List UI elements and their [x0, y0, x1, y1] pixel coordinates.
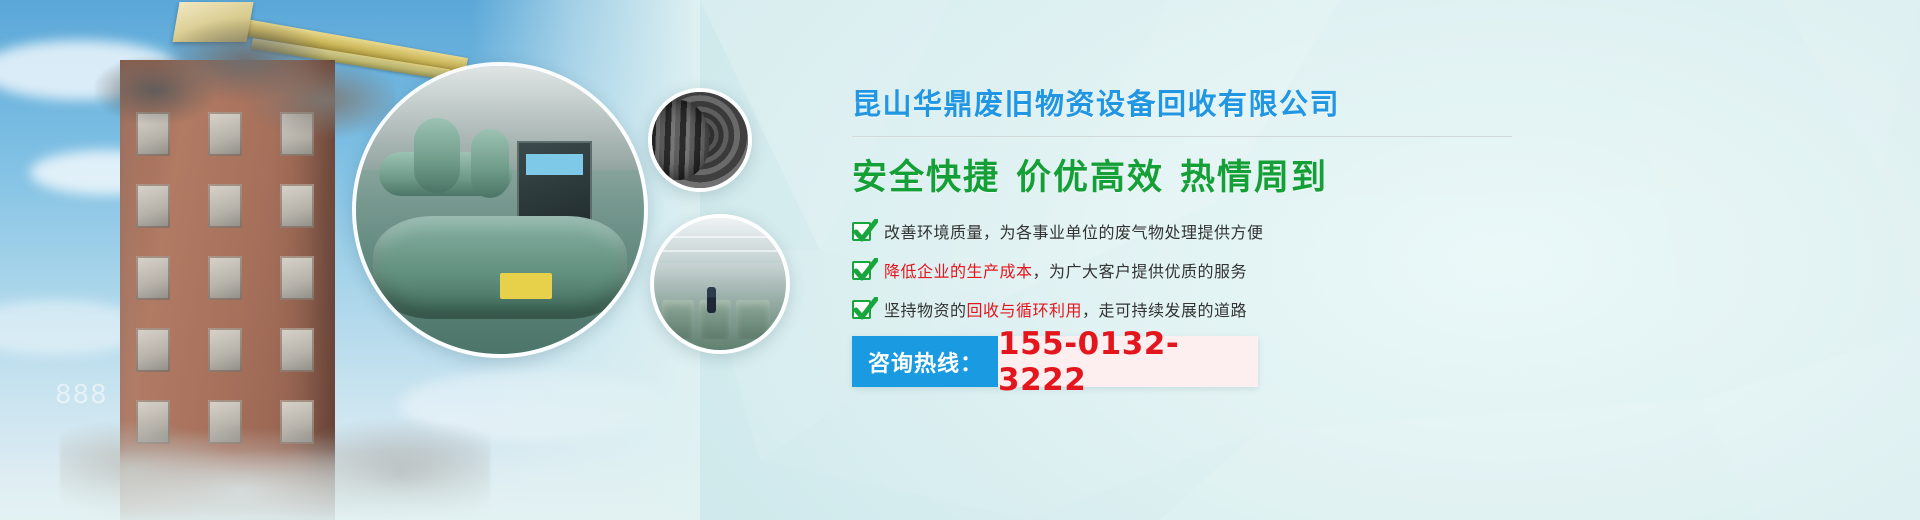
- slogan: 安全快捷价优高效热情周到: [852, 157, 1852, 199]
- check-icon: [852, 261, 871, 280]
- ceiling: [654, 218, 786, 263]
- watermark: 888: [55, 380, 108, 410]
- list-item-pre: 改善环境质量: [884, 219, 983, 243]
- check-icon: [852, 300, 871, 319]
- hotline-label: 咨询热线：: [852, 336, 998, 387]
- photo-fade-bottom: [0, 450, 700, 520]
- feature-list: 改善环境质量 ，为各事业单位的废气物处理提供方便 降低企业的生产成本 ，为广大客…: [852, 219, 1852, 321]
- window: [280, 184, 314, 228]
- list-item: 降低企业的生产成本 ，为广大客户提供优质的服务: [852, 258, 1852, 282]
- window: [208, 184, 242, 228]
- list-item: 改善环境质量 ，为各事业单位的废气物处理提供方便: [852, 219, 1852, 243]
- steel-coil-photo-bubble: [648, 88, 752, 192]
- yellow-label: [500, 273, 552, 299]
- hotline-number[interactable]: 155-0132-3222: [998, 336, 1258, 387]
- list-item-highlight: 降低企业的生产成本: [884, 258, 1033, 282]
- pressure-tank: [373, 216, 626, 320]
- ceiling-beam: [654, 250, 786, 252]
- worker: [707, 287, 716, 313]
- machinery-photo-bubble: [352, 62, 648, 358]
- coil-bands: [648, 100, 710, 181]
- chiller-machine: [356, 66, 644, 354]
- plating-tank: [662, 300, 694, 340]
- plating-tank: [736, 300, 770, 340]
- pipe: [471, 129, 508, 198]
- ceiling-beam: [654, 236, 786, 238]
- pipe: [414, 118, 460, 193]
- rubble: [95, 0, 395, 170]
- list-item-highlight: 回收与循环利用: [967, 297, 1083, 321]
- steel-coil: [652, 92, 748, 188]
- list-item: 坚持物资的 回收与循环利用 ，走可持续发展的道路: [852, 297, 1852, 321]
- workshop-photo-bubble: [650, 214, 790, 354]
- check-icon: [852, 222, 871, 241]
- banner-content: 昆山华鼎废旧物资设备回收有限公司 安全快捷价优高效热情周到 改善环境质量 ，为各…: [852, 86, 1852, 387]
- divider: [852, 136, 1512, 138]
- list-item-post: ，走可持续发展的道路: [1082, 297, 1247, 321]
- slogan-part-3: 热情周到: [1180, 158, 1328, 198]
- slogan-part-1: 安全快捷: [852, 158, 1000, 198]
- workshop-interior: [654, 218, 786, 350]
- company-name: 昆山华鼎废旧物资设备回收有限公司: [852, 86, 1852, 122]
- hotline-bar[interactable]: 咨询热线： 155-0132-3222: [852, 336, 1258, 387]
- list-item-post: ，为广大客户提供优质的服务: [1033, 258, 1248, 282]
- promo-banner: 888 昆山华鼎废旧: [0, 0, 1920, 520]
- slogan-part-2: 价优高效: [1016, 158, 1164, 198]
- list-item-pre: 坚持物资的: [884, 297, 967, 321]
- list-item-post: ，为各事业单位的废气物处理提供方便: [983, 219, 1264, 243]
- window: [136, 184, 170, 228]
